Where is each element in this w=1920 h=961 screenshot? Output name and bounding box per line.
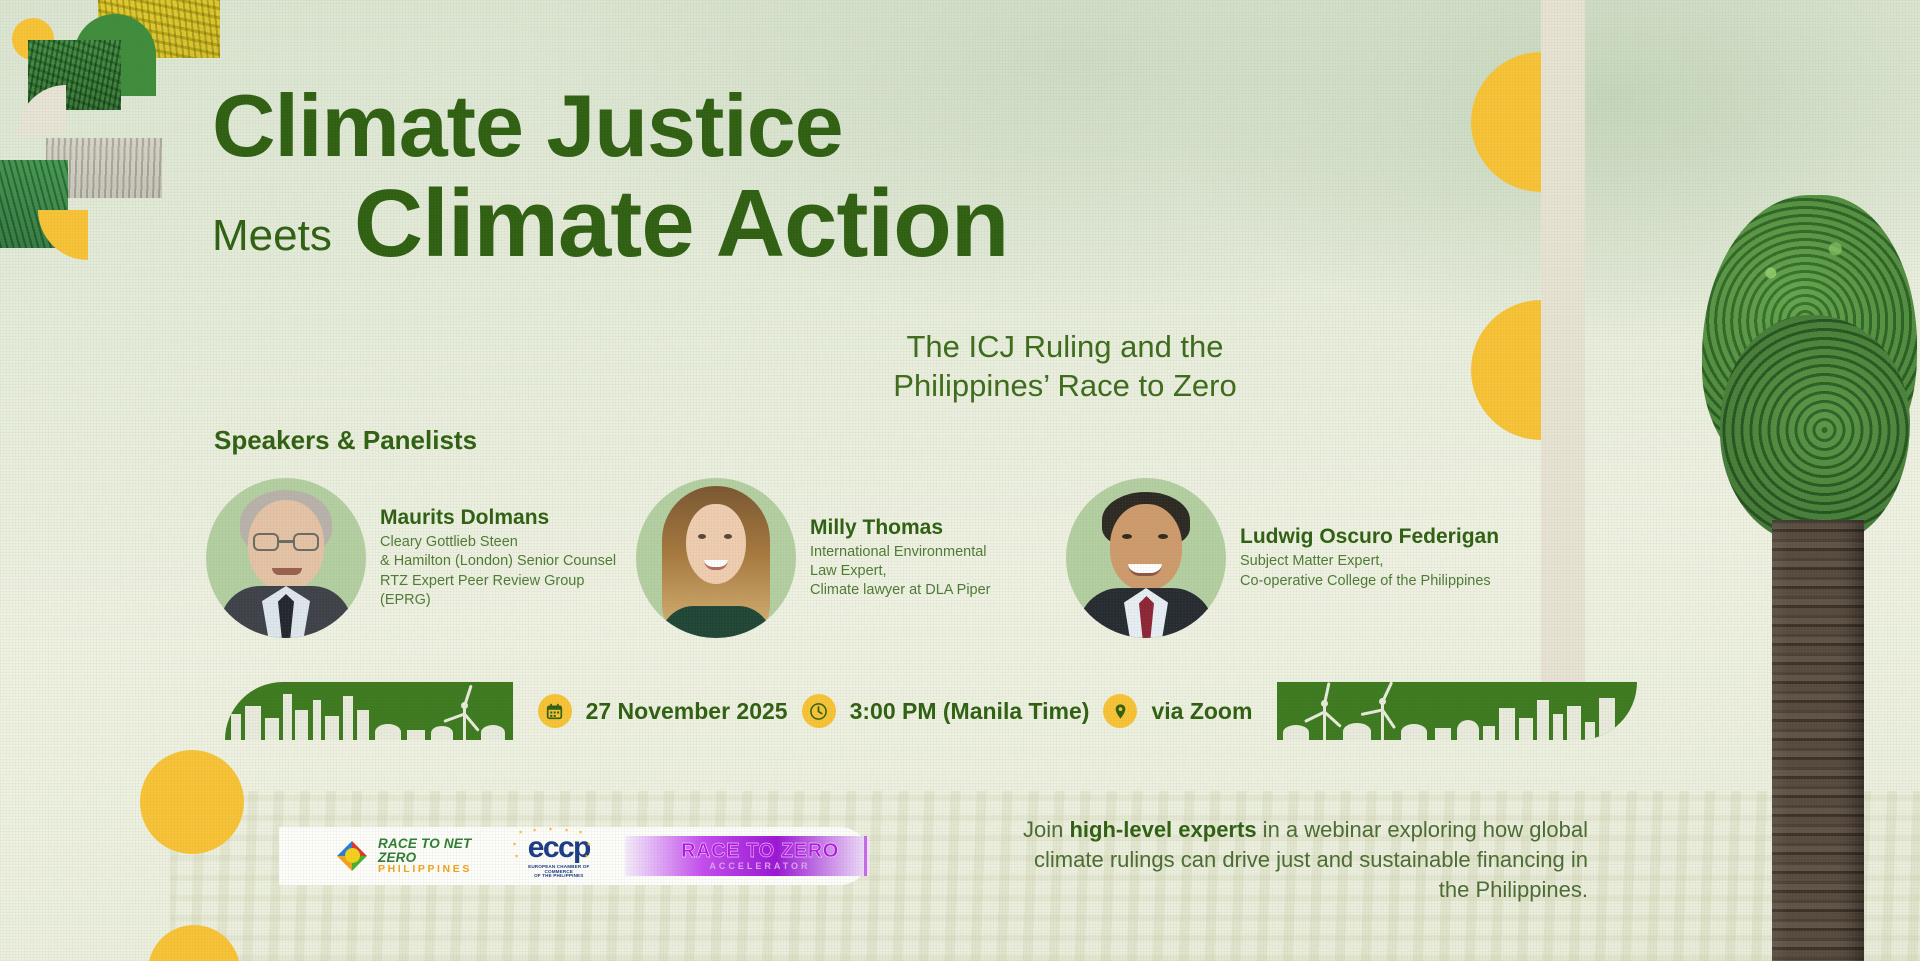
speaker-role: Cleary Gottlieb Steen & Hamilton (London…	[380, 533, 616, 610]
calendar-icon	[538, 694, 572, 728]
subtitle: The ICJ Ruling and the Philippines’ Race…	[830, 328, 1300, 406]
city-skyline-left-icon	[225, 682, 513, 740]
rtz-logo-line-1: RACE TO ZERO	[681, 841, 839, 861]
event-date: 27 November 2025	[586, 698, 788, 725]
speakers-row: Maurits Dolmans Cleary Gottlieb Steen & …	[206, 478, 1606, 638]
webinar-description: Join high-level experts in a webinar exp…	[1023, 815, 1588, 905]
event-details-items: 27 November 2025 3:00 PM (Manila Time) v…	[513, 682, 1277, 740]
blurb-bold: high-level experts	[1069, 817, 1256, 842]
subtitle-line-1: The ICJ Ruling and the	[830, 328, 1300, 367]
event-time: 3:00 PM (Manila Time)	[850, 698, 1090, 725]
pinwheel-icon	[335, 839, 369, 873]
location-pin-icon	[1103, 694, 1137, 728]
decorative-yellow-half-circle-top	[1471, 52, 1541, 192]
coin-stack-trunk-icon	[1772, 520, 1864, 961]
event-platform: via Zoom	[1151, 698, 1252, 725]
avatar-maurits-dolmans	[206, 478, 366, 638]
race-to-zero-accelerator-logo[interactable]: RACE TO ZERO ACCELERATOR	[625, 836, 869, 876]
rtnz-logo-line-1: RACE TO NET ZERO	[378, 837, 493, 865]
clock-icon	[802, 694, 836, 728]
eccp-wordmark: eccp	[519, 833, 599, 863]
webinar-poster: Climate Justice Meets Climate Action The…	[0, 0, 1920, 961]
title-line-1: Climate Justice	[212, 82, 1008, 170]
speaker-card-maurits-dolmans: Maurits Dolmans Cleary Gottlieb Steen & …	[206, 478, 636, 638]
speaker-card-ludwig-oscuro-federigan: Ludwig Oscuro Federigan Subject Matter E…	[1066, 478, 1526, 638]
title-line-2: Climate Action	[354, 176, 1009, 272]
speaker-name: Maurits Dolmans	[380, 506, 616, 530]
race-to-net-zero-philippines-logo[interactable]: RACE TO NET ZERO PHILIPPINES	[335, 837, 493, 875]
speaker-card-milly-thomas: Milly Thomas International Environmental…	[636, 478, 1066, 638]
decorative-yellow-half-circle-bottom	[1471, 300, 1541, 440]
partner-logos-bar: RACE TO NET ZERO PHILIPPINES eccp EUROPE…	[279, 827, 869, 885]
event-details-band: 27 November 2025 3:00 PM (Manila Time) v…	[225, 682, 1637, 740]
speaker-name: Milly Thomas	[810, 516, 991, 540]
avatar-milly-thomas	[636, 478, 796, 638]
rtnz-logo-line-2: PHILIPPINES	[378, 864, 493, 875]
collage-beige-quarter-circle	[18, 85, 66, 135]
speaker-name: Ludwig Oscuro Federigan	[1240, 525, 1499, 549]
tree-canopy-lower-icon	[1720, 315, 1910, 545]
subtitle-line-2: Philippines’ Race to Zero	[830, 367, 1300, 406]
title-meets-word: Meets	[212, 214, 332, 272]
eccp-subtitle: EUROPEAN CHAMBER OF COMMERCE OF THE PHIL…	[519, 865, 599, 879]
rtz-logo-line-2: ACCELERATOR	[681, 862, 839, 871]
speaker-role: Subject Matter Expert, Co-operative Coll…	[1240, 552, 1499, 590]
avatar-ludwig-oscuro-federigan	[1066, 478, 1226, 638]
money-tree-illustration	[1710, 195, 1920, 961]
collage-yellow-quarter-circle	[38, 210, 88, 260]
headline-block: Climate Justice Meets Climate Action	[212, 82, 1008, 272]
city-skyline-right-icon	[1277, 682, 1637, 740]
speakers-section-label: Speakers & Panelists	[214, 425, 477, 456]
rtz-logo-accent-bar	[864, 836, 867, 876]
decorative-yellow-circle-lower	[140, 750, 244, 854]
eccp-logo[interactable]: eccp EUROPEAN CHAMBER OF COMMERCE OF THE…	[519, 833, 599, 879]
blurb-pre: Join	[1023, 817, 1069, 842]
speaker-role: International Environmental Law Expert, …	[810, 543, 991, 600]
